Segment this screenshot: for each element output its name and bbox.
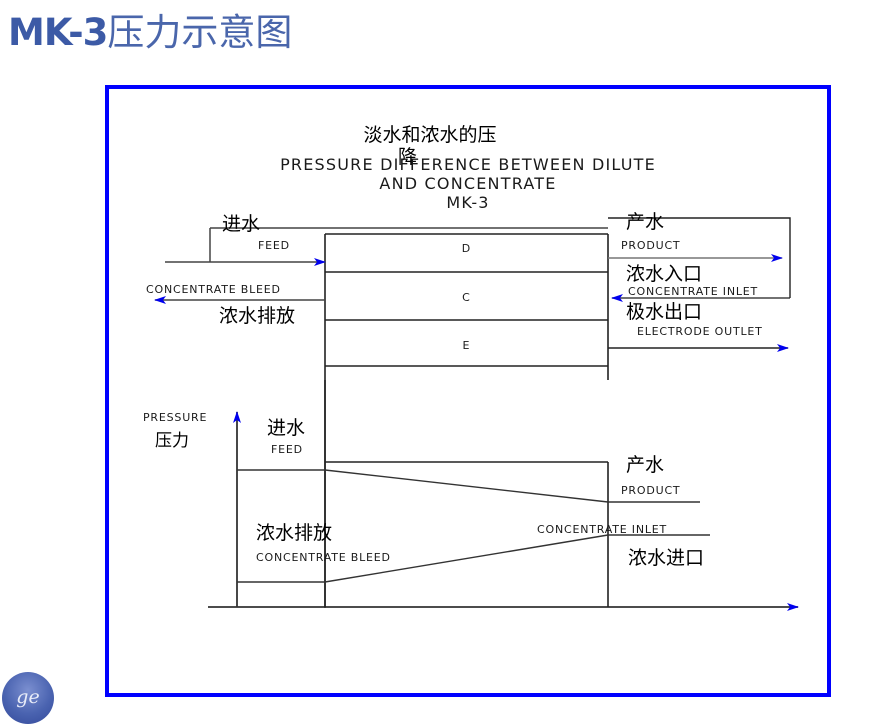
chart-inlet-label-en: CONCENTRATE INLET (537, 523, 667, 536)
stack-cell-label-e: E (396, 339, 536, 352)
brand-logo-glyph: ge (2, 686, 54, 708)
page-title: MK-3压力示意图 (8, 8, 708, 64)
flow-bleed-label-cn: 浓水排放 (219, 301, 295, 328)
chart-feed-label-en: FEED (271, 443, 303, 456)
flow-product-label-en: PRODUCT (621, 239, 680, 252)
page-title-cjk: 压力示意图 (107, 11, 292, 54)
flow-product-label-cn: 产水 (626, 207, 664, 234)
flow-electrode-label-en: ELECTRODE OUTLET (637, 325, 763, 338)
stack-cell-label-d: D (396, 242, 536, 255)
heading-en-line2: AND CONCENTRATE (183, 174, 753, 193)
flow-feed-label-cn: 进水 (222, 209, 260, 236)
heading-en-line3: MK-3 (183, 193, 753, 212)
stack-cell-label-c: C (396, 291, 536, 304)
chart-feed-label-cn: 进水 (267, 413, 305, 440)
chart-axis-label-en: PRESSURE (143, 411, 207, 424)
flow-bleed-label-en: CONCENTRATE BLEED (146, 283, 281, 296)
flow-inlet-label-cn: 浓水入口 (626, 259, 702, 286)
chart-product-label-cn: 产水 (626, 450, 664, 477)
chart-bleed-label-en: CONCENTRATE BLEED (256, 551, 391, 564)
heading-en-line1: PRESSURE DIFFERENCE BETWEEN DILUTE (183, 155, 753, 174)
chart-axis-label-cn: 压力 (155, 426, 189, 451)
brand-logo: ge (2, 672, 54, 724)
flow-electrode-label-cn: 极水出口 (626, 297, 702, 324)
heading-cjk-line1: 淡水和浓水的压 (330, 120, 530, 147)
page-title-latin: MK-3 (8, 11, 107, 54)
flow-feed-label-en: FEED (258, 239, 290, 252)
chart-bleed-label-cn: 浓水排放 (256, 518, 332, 545)
chart-inlet-label-cn: 浓水进口 (628, 543, 704, 570)
chart-product-label-en: PRODUCT (621, 484, 680, 497)
